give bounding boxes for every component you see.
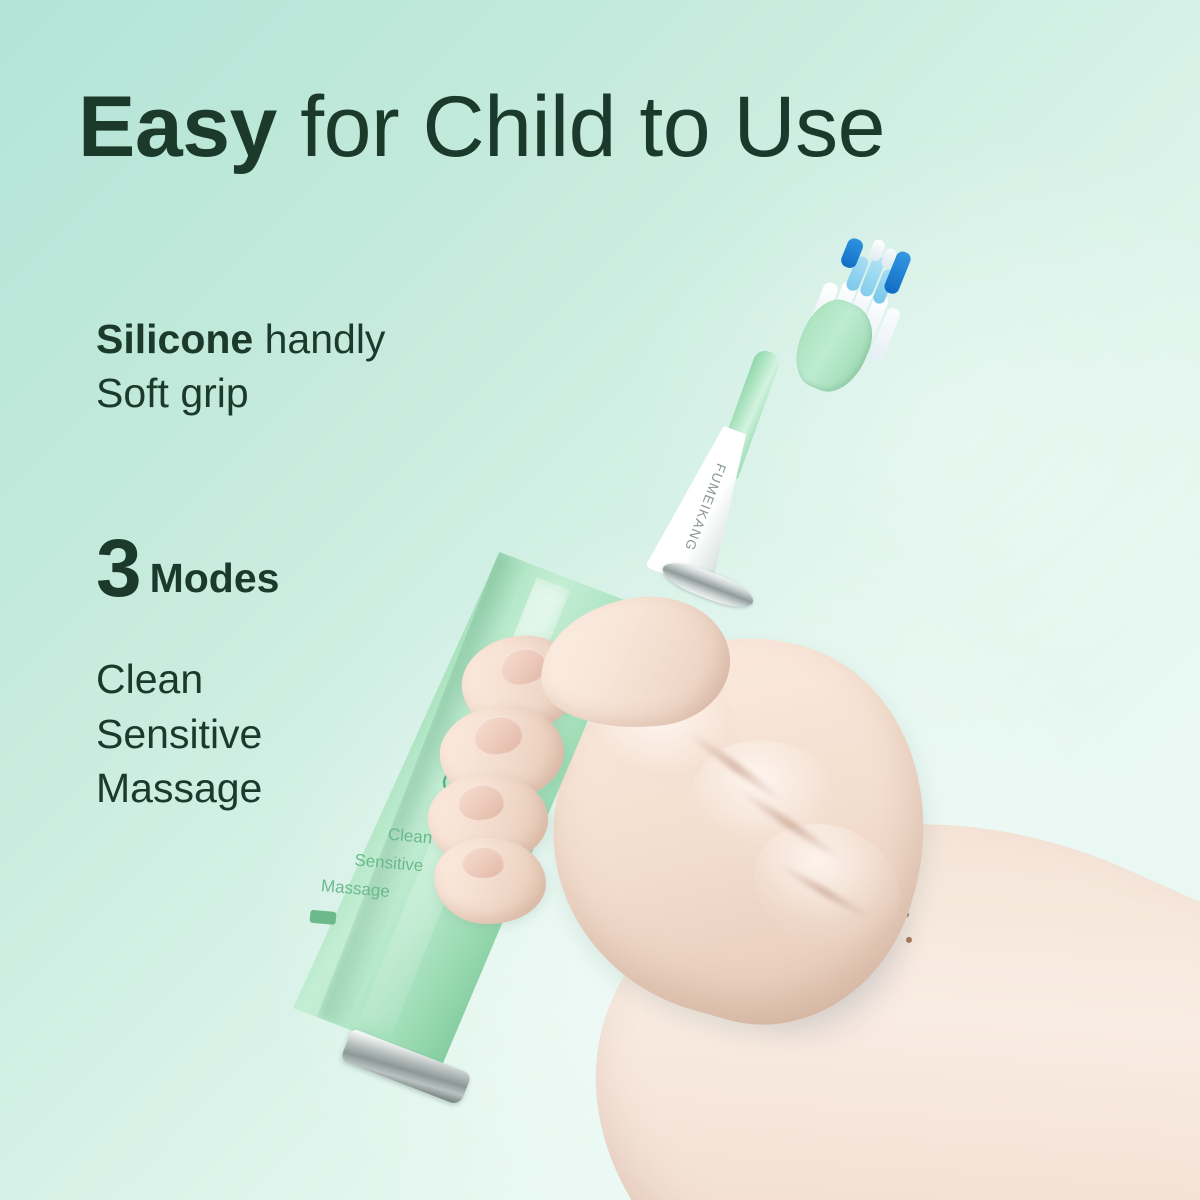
handle-mode-label-clean: Clean xyxy=(387,825,433,849)
knuckle-highlight xyxy=(584,660,759,813)
modes-heading: 3Modes xyxy=(96,528,279,610)
fingernail xyxy=(496,643,549,689)
feature-modes: 3Modes Clean Sensitive Massage xyxy=(96,528,279,816)
modes-count-label: Modes xyxy=(150,555,280,601)
finger xyxy=(453,625,588,743)
bristle-tuft-white xyxy=(821,279,859,344)
hand-crease xyxy=(775,861,874,923)
brush-bristles xyxy=(800,225,941,373)
finger xyxy=(433,836,548,926)
knuckle-highlight xyxy=(674,720,866,891)
skin-mole xyxy=(905,936,913,944)
feature-silicone: Silicone handly Soft grip xyxy=(96,312,385,420)
bristle-tuft-white xyxy=(867,238,886,263)
feature-silicone-rest: handly xyxy=(253,316,385,362)
handle-control-face: Clean Sensitive Massage xyxy=(262,529,637,1071)
bristle-tuft-light-blue xyxy=(858,255,886,299)
brush-neck xyxy=(713,348,783,481)
bristle-tuft-blue xyxy=(882,249,912,295)
mode-list-item-sensitive: Sensitive xyxy=(96,707,279,762)
page-title: Easy for Child to Use xyxy=(78,84,885,172)
feature-silicone-line2: Soft grip xyxy=(96,366,385,420)
finger xyxy=(434,698,570,810)
skin-mole xyxy=(901,910,910,918)
brush-body-white: FUMEIKANG xyxy=(645,417,768,591)
bristle-tuft-white xyxy=(880,247,899,270)
handle-highlight xyxy=(355,573,570,1038)
bristle-tuft-blue xyxy=(839,236,865,270)
product-marketing-image: FUMEIKANG Clean Sensitive Massage xyxy=(0,0,1200,1200)
knuckle-highlight xyxy=(735,802,919,969)
brand-label: FUMEIKANG xyxy=(682,462,729,554)
palm xyxy=(511,592,971,1059)
forearm xyxy=(518,700,1200,1200)
handle-mode-label-sensitive: Sensitive xyxy=(354,850,424,876)
bristle-tuft-light-blue xyxy=(872,268,897,306)
feature-silicone-emphasis: Silicone xyxy=(96,316,253,362)
modes-count: 3 xyxy=(96,523,140,614)
feature-silicone-line1: Silicone handly xyxy=(96,312,385,366)
finger xyxy=(425,770,551,870)
power-icon[interactable] xyxy=(432,758,479,805)
headline-emphasis: Easy xyxy=(78,79,277,175)
bristle-tuft-light-blue xyxy=(845,255,871,293)
bristle-tuft-white xyxy=(852,292,890,357)
arm-vein-shading xyxy=(720,854,943,1093)
chrome-ring-bottom xyxy=(340,1028,472,1106)
mode-list-item-massage: Massage xyxy=(96,761,279,816)
battery-icon xyxy=(309,910,336,925)
handle-mode-label-massage: Massage xyxy=(320,876,390,902)
brush-body-surface xyxy=(645,417,768,591)
mode-list-item-clean: Clean xyxy=(96,652,279,707)
hand-crease xyxy=(685,728,786,805)
handle-surface xyxy=(262,529,637,1071)
fingernail xyxy=(462,846,504,878)
headline-rest: for Child to Use xyxy=(277,79,885,175)
handle xyxy=(262,529,637,1071)
hand-crease xyxy=(736,786,844,863)
bristle-tuft-white xyxy=(868,306,902,363)
fingernail xyxy=(456,782,506,823)
chrome-ring-top xyxy=(659,556,758,615)
bristle-tuft-white xyxy=(805,280,840,338)
background-glow-primary xyxy=(260,520,1160,1200)
fingernail xyxy=(471,712,525,758)
bristle-tuft-white xyxy=(837,282,876,351)
thumb xyxy=(534,588,737,737)
handle-shadow xyxy=(317,550,528,1029)
brush-head-plate xyxy=(785,291,883,402)
background-glow-secondary xyxy=(620,120,1200,740)
